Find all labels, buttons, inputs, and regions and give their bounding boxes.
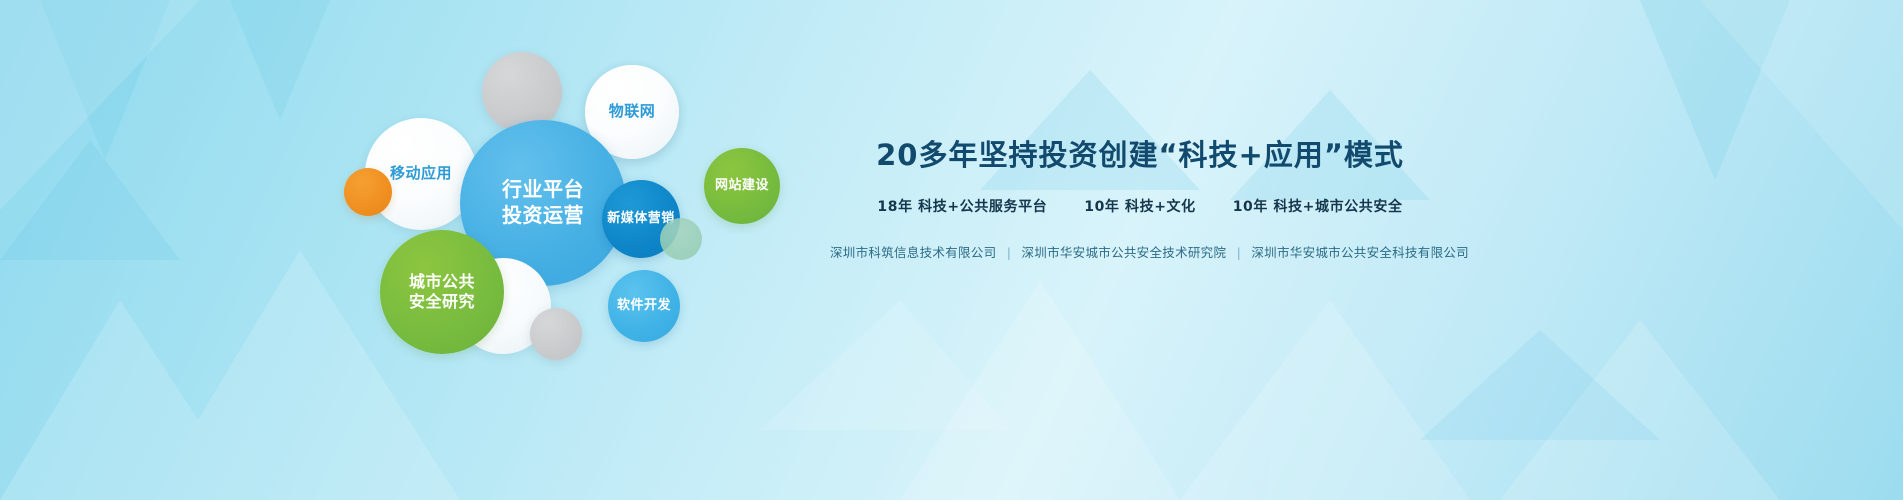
bubble-mobile-app-label: 移动应用 bbox=[390, 164, 452, 183]
bubble-industry-platform-label: 行业平台 投资运营 bbox=[502, 177, 584, 228]
company-list: 深圳市科筑信息技术有限公司 | 深圳市华安城市公共安全技术研究院 | 深圳市华安… bbox=[830, 242, 1450, 261]
service-bubble-cluster: 物联网 移动应用 行业平台 投资运营 城市公共 安全研究 新媒体营销 软件开发 … bbox=[330, 40, 830, 370]
bubble-software-development[interactable]: 软件开发 bbox=[608, 270, 680, 342]
bubble-website-construction[interactable]: 网站建设 bbox=[704, 148, 780, 224]
subline: 18年 科技+公共服务平台 10年 科技+文化 10年 科技+城市公共安全 bbox=[830, 196, 1450, 216]
copy-block: 20多年坚持投资创建“科技+应用”模式 18年 科技+公共服务平台 10年 科技… bbox=[830, 132, 1450, 261]
company-name-2: 深圳市华安城市公共安全技术研究院 bbox=[1021, 245, 1226, 260]
bubble-orange-dot[interactable] bbox=[344, 168, 392, 216]
bubble-mint-accent bbox=[660, 218, 702, 260]
bubble-urban-safety-research[interactable]: 城市公共 安全研究 bbox=[380, 230, 504, 354]
bubble-iot-label: 物联网 bbox=[609, 102, 656, 121]
bubble-website-construction-label: 网站建设 bbox=[715, 178, 769, 195]
headline: 20多年坚持投资创建“科技+应用”模式 bbox=[830, 132, 1450, 174]
subline-item-3: 10年 科技+城市公共安全 bbox=[1233, 199, 1403, 215]
company-name-3: 深圳市华安城市公共安全科技有限公司 bbox=[1251, 245, 1469, 260]
bubble-software-development-label: 软件开发 bbox=[617, 298, 671, 315]
bubble-urban-safety-research-label: 城市公共 安全研究 bbox=[409, 272, 475, 313]
company-separator-1: | bbox=[1001, 245, 1018, 260]
company-separator-2: | bbox=[1231, 245, 1248, 260]
promo-banner: 物联网 移动应用 行业平台 投资运营 城市公共 安全研究 新媒体营销 软件开发 … bbox=[0, 0, 1903, 500]
subline-item-1: 18年 科技+公共服务平台 bbox=[877, 199, 1047, 215]
subline-item-2: 10年 科技+文化 bbox=[1084, 199, 1196, 215]
bubble-gray-small bbox=[530, 308, 582, 360]
company-name-1: 深圳市科筑信息技术有限公司 bbox=[830, 245, 996, 260]
